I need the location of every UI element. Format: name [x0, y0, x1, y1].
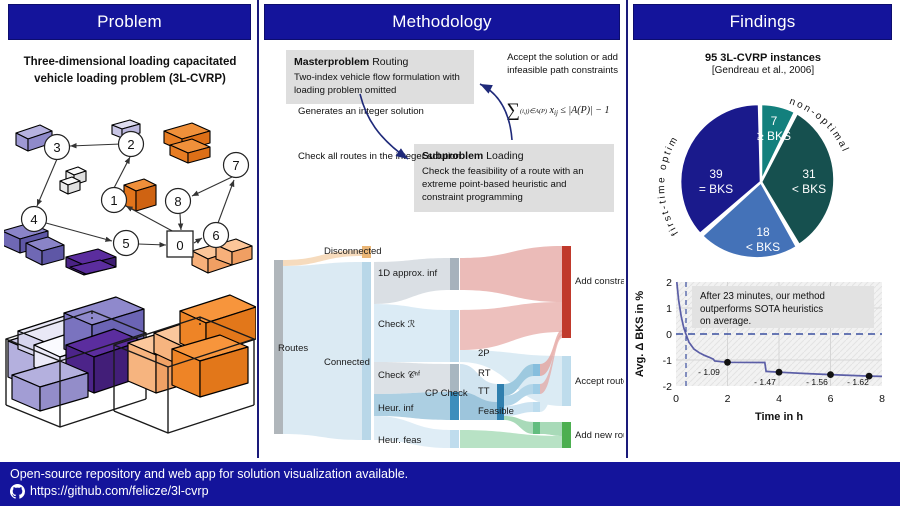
sankey-node-connected	[362, 262, 371, 440]
pie-chart-subtitle: [Gendreau et al., 2006]	[630, 65, 896, 76]
column-header-findings-label: Findings	[730, 12, 796, 32]
sankey-label-heur-inf: Heur. inf	[378, 403, 414, 414]
line-chart-xtick-2: 2	[725, 393, 731, 405]
arrow-master-to-sub	[360, 94, 408, 159]
sankey-node-heur-feas	[450, 430, 459, 448]
line-chart-svg: - 1.09 - 1.47 - 1.56 - 1.62 2 1 0 -1 -2 …	[630, 274, 896, 426]
parcel-icon-white-stack	[60, 167, 86, 194]
svg-text:6: 6	[212, 228, 219, 243]
column-header-methodology-label: Methodology	[392, 12, 492, 32]
sankey-label-connected: Connected	[324, 357, 370, 368]
line-chart-marker-label-2: - 1.47	[754, 377, 776, 387]
footer-url[interactable]: https://github.com/felicze/3l-cvrp	[30, 484, 209, 498]
arrow-sub-to-master	[480, 84, 512, 140]
line-chart-yticks: 2 1 0 -1 -2	[663, 277, 673, 393]
line-chart-xtick-8: 8	[879, 393, 885, 405]
parcel-icon-orange-cube	[124, 179, 156, 211]
svg-text:0: 0	[176, 238, 183, 253]
sankey-node-1d-approx-inf	[450, 258, 459, 290]
line-chart-marker-label-4: - 1.62	[847, 377, 869, 387]
pie-chart: 39 = BKS 18 < BKS 31 < BKS 7 ≥ BKS first…	[630, 78, 896, 270]
svg-text:5: 5	[122, 236, 129, 251]
line-chart-xtick-4: 4	[776, 393, 782, 405]
column-header-methodology: Methodology	[264, 4, 620, 40]
pie-outer-label-first-time-optimal: first-time optimal	[630, 78, 681, 237]
line-chart-marker-6h	[827, 371, 834, 378]
sankey-label-cp-check: CP Check	[425, 388, 468, 399]
pie-label-31-count: 31	[802, 167, 816, 181]
sankey-svg: Routes Disconnected Connected 1D approx.…	[262, 244, 624, 452]
line-chart-marker-2h	[724, 359, 731, 366]
sankey-label-heur-feas: Heur. feas	[378, 435, 422, 446]
line-chart-ytick-2: 2	[666, 277, 672, 289]
svg-text:8: 8	[174, 194, 181, 209]
line-chart-xtick-6: 6	[828, 393, 834, 405]
sankey-node-add-constraint	[562, 246, 571, 338]
methodology-column: Masterproblem Routing Two-index vehicle …	[262, 44, 624, 454]
network-graph-svg: 1 2 3 4 5 6 7 8 0	[4, 93, 256, 281]
line-chart-marker-label-3: - 1.56	[806, 377, 828, 387]
sankey-label-accept-route: Accept route	[575, 376, 624, 387]
column-divider-left	[257, 0, 259, 458]
line-chart-marker-label-1: - 1.09	[698, 367, 720, 377]
pie-label-18-count: 18	[756, 225, 770, 239]
sankey-node-accept-route	[562, 356, 571, 406]
problem-column: Three-dimensional loading capacitated ve…	[4, 44, 256, 454]
pie-label-39-count: 39	[709, 167, 723, 181]
network-graph-illustration: 1 2 3 4 5 6 7 8 0	[4, 93, 256, 281]
line-chart: - 1.09 - 1.47 - 1.56 - 1.62 2 1 0 -1 -2 …	[630, 274, 896, 426]
sankey-node-feasible	[533, 422, 540, 434]
line-chart-xlabel: Time in h	[755, 411, 803, 423]
column-header-findings: Findings	[633, 4, 892, 40]
pie-label-39-rel: = BKS	[699, 182, 733, 196]
parcel-icon-orange-stack	[164, 123, 210, 163]
problem-title: Three-dimensional loading capacitated ve…	[4, 54, 256, 87]
container-right-items	[128, 295, 256, 397]
footer-bar: Open-source repository and web app for s…	[0, 462, 900, 506]
line-chart-annotation: After 23 minutes, our method outperforms…	[692, 286, 874, 328]
footer-link-row[interactable]: https://github.com/felicze/3l-cvrp	[10, 484, 890, 499]
line-chart-xtick-0: 0	[673, 393, 679, 405]
poster-root: Problem Methodology Findings Three-dimen…	[0, 0, 900, 506]
line-chart-ytick-1: 1	[666, 303, 672, 315]
findings-column: 95 3L-CVRP instances [Gendreau et al., 2…	[630, 44, 896, 454]
svg-text:7: 7	[232, 158, 239, 173]
parcel-icon-purple-center	[66, 249, 116, 275]
sankey-node-rt	[533, 384, 540, 394]
svg-text:1: 1	[110, 193, 117, 208]
line-chart-annotation-line3: on average.	[700, 316, 751, 327]
svg-text:3: 3	[53, 140, 60, 155]
sankey-label-rt: RT	[478, 368, 491, 379]
column-header-problem-label: Problem	[97, 12, 162, 32]
sankey-label-2p: 2P	[478, 348, 490, 359]
column-header-problem: Problem	[8, 4, 251, 40]
sankey-label-check-r: Check ℛ	[378, 319, 416, 330]
sankey-diagram: Routes Disconnected Connected 1D approx.…	[262, 244, 624, 452]
sankey-node-check-r	[450, 310, 459, 362]
line-chart-ylabel: Avg. Δ BKS in %	[634, 291, 646, 378]
sankey-label-tt: TT	[478, 386, 490, 397]
line-chart-annotation-line2: outperforms SOTA heuristics	[700, 304, 823, 315]
sankey-label-disconnected: Disconnected	[324, 246, 382, 257]
sankey-label-add-new-route: Add new route	[575, 430, 624, 441]
column-divider-right	[626, 0, 628, 458]
line-chart-xticks: 0 2 4 6 8	[673, 393, 885, 405]
pie-label-7-count: 7	[771, 114, 778, 128]
sankey-label-1d-approx-inf: 1D approx. inf	[378, 268, 438, 279]
line-chart-ytick-0: 0	[666, 329, 672, 341]
sankey-label-routes: Routes	[278, 343, 308, 354]
sankey-label-check-c: Check 𝒞ⁿᶠ	[378, 370, 420, 381]
pie-label-31-rel: < BKS	[792, 182, 826, 196]
container-left-items	[8, 297, 144, 411]
sankey-node-tt	[533, 402, 540, 412]
svg-text:2: 2	[127, 137, 134, 152]
line-chart-marker-4h	[776, 369, 783, 376]
pie-label-7-rel: ≥ BKS	[757, 129, 791, 143]
line-chart-ytick-neg2: -2	[663, 381, 672, 393]
sankey-label-add-constraint: Add constraint	[575, 276, 624, 287]
truck-loading-illustration	[4, 283, 256, 443]
sankey-label-feasible: Feasible	[478, 406, 514, 417]
line-chart-annotation-line1: After 23 minutes, our method	[700, 291, 825, 302]
line-chart-ytick-neg1: -1	[663, 355, 672, 367]
sankey-node-2p	[533, 364, 540, 376]
sankey-node-add-new-route	[562, 422, 571, 448]
flow-arrows-svg	[262, 44, 624, 244]
footer-description: Open-source repository and web app for s…	[10, 466, 890, 483]
svg-text:4: 4	[30, 212, 37, 227]
pie-label-18-rel: < BKS	[746, 240, 780, 254]
truck-loading-svg	[4, 283, 256, 443]
pie-chart-svg: 39 = BKS 18 < BKS 31 < BKS 7 ≥ BKS first…	[630, 78, 896, 270]
github-icon	[10, 484, 25, 499]
pie-chart-title: 95 3L-CVRP instances	[630, 52, 896, 64]
